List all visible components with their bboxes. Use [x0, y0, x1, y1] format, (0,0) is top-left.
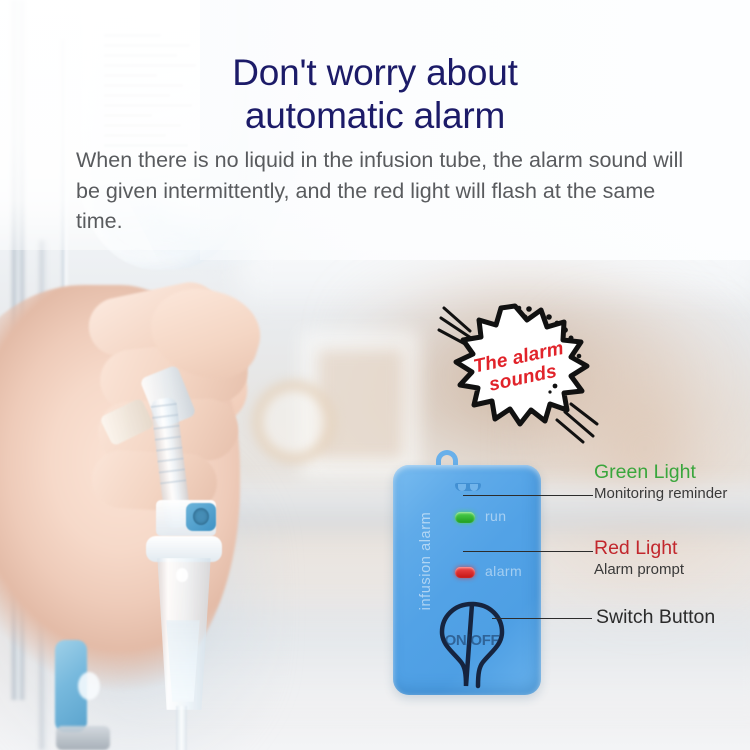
page-title: Don't worry about automatic alarm	[0, 52, 750, 138]
burst-detail-dot-2	[548, 390, 551, 393]
iv-drop	[176, 568, 188, 582]
iv-injection-port-knob	[78, 672, 100, 700]
red-led-caption: alarm	[485, 563, 522, 579]
callout-red-light: Red Light Alarm prompt	[594, 537, 684, 579]
page-description: When there is no liquid in the infusion …	[76, 145, 706, 237]
callout-green-light-subtitle: Monitoring reminder	[594, 485, 727, 503]
callout-red-light-title: Red Light	[594, 537, 684, 559]
callout-green-light-title: Green Light	[594, 461, 727, 483]
device-body: infusion alarm run alarm ON/OFF	[393, 465, 541, 695]
leader-line-green-light	[463, 495, 593, 496]
on-off-switch-label: ON/OFF	[436, 632, 508, 649]
leader-line-red-light	[463, 551, 593, 552]
green-led-indicator	[455, 512, 475, 523]
iv-roller-wheel-hole	[193, 508, 209, 525]
device-top-clip	[455, 483, 481, 491]
callout-red-light-subtitle: Alarm prompt	[594, 561, 684, 579]
red-led-indicator	[455, 567, 475, 578]
device-brand-text: infusion alarm	[418, 497, 434, 625]
iv-metal-clip	[56, 726, 110, 750]
on-off-switch-button[interactable]: ON/OFF	[436, 600, 508, 692]
alarm-sound-burst: The alarm sounds	[437, 300, 602, 445]
burst-detail-dot-1	[553, 384, 558, 389]
callout-switch-button: Switch Button	[596, 606, 715, 628]
iv-outlet-tube	[176, 706, 187, 750]
callout-switch-button-title: Switch Button	[596, 606, 715, 628]
product-infographic-poster: Don't worry about automatic alarm When t…	[0, 0, 750, 750]
green-led-caption: run	[485, 508, 506, 524]
leader-line-switch-button	[492, 618, 592, 619]
callout-green-light: Green Light Monitoring reminder	[594, 461, 727, 503]
infusion-alarm-device: infusion alarm run alarm ON/OFF	[388, 450, 548, 698]
